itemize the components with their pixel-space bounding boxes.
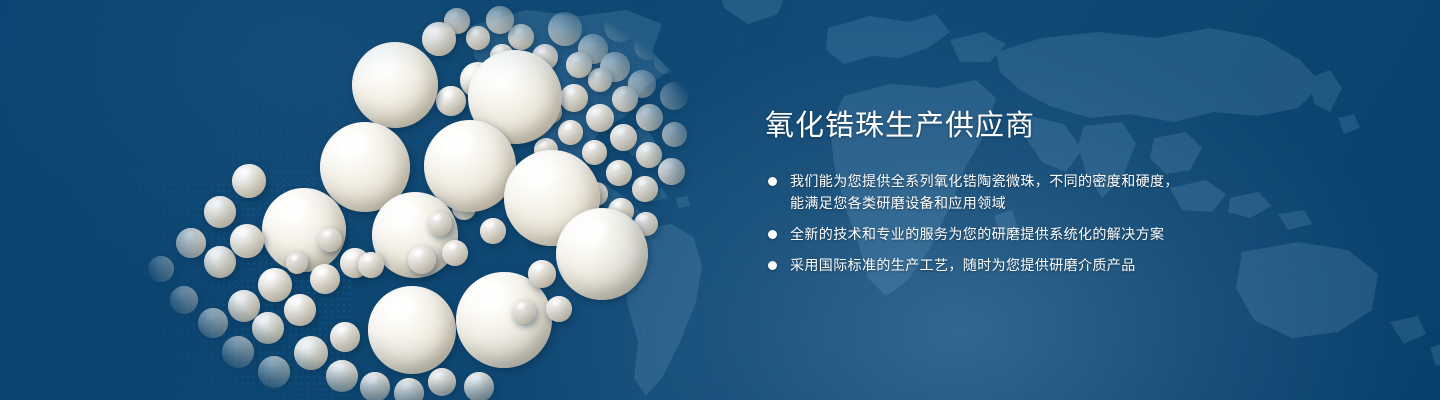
bullet-dot-icon <box>768 177 777 186</box>
zirconia-beads-image <box>0 0 780 400</box>
banner-copy: 氧化锆珠生产供应商 我们能为您提供全系列氧化锆陶瓷微珠，不同的密度和硬度， 能满… <box>765 108 1235 285</box>
list-item: 采用国际标准的生产工艺，随时为您提供研磨介质产品 <box>765 254 1235 276</box>
list-item: 全新的技术和专业的服务为您的研磨提供系统化的解决方案 <box>765 223 1235 245</box>
bullet-dot-icon <box>768 261 777 270</box>
bullet-dot-icon <box>768 230 777 239</box>
hero-banner: 氧化锆珠生产供应商 我们能为您提供全系列氧化锆陶瓷微珠，不同的密度和硬度， 能满… <box>0 0 1440 400</box>
bullet-line-1: 采用国际标准的生产工艺，随时为您提供研磨介质产品 <box>790 257 1136 273</box>
bullet-line-1: 我们能为您提供全系列氧化锆陶瓷微珠，不同的密度和硬度， <box>790 173 1179 189</box>
bullet-line-2: 能满足您各类研磨设备和应用领域 <box>790 192 1235 214</box>
list-item: 我们能为您提供全系列氧化锆陶瓷微珠，不同的密度和硬度， 能满足您各类研磨设备和应… <box>765 170 1235 214</box>
bullet-line-1: 全新的技术和专业的服务为您的研磨提供系统化的解决方案 <box>790 226 1164 242</box>
page-title: 氧化锆珠生产供应商 <box>765 108 1235 144</box>
feature-list: 我们能为您提供全系列氧化锆陶瓷微珠，不同的密度和硬度， 能满足您各类研磨设备和应… <box>765 170 1235 276</box>
